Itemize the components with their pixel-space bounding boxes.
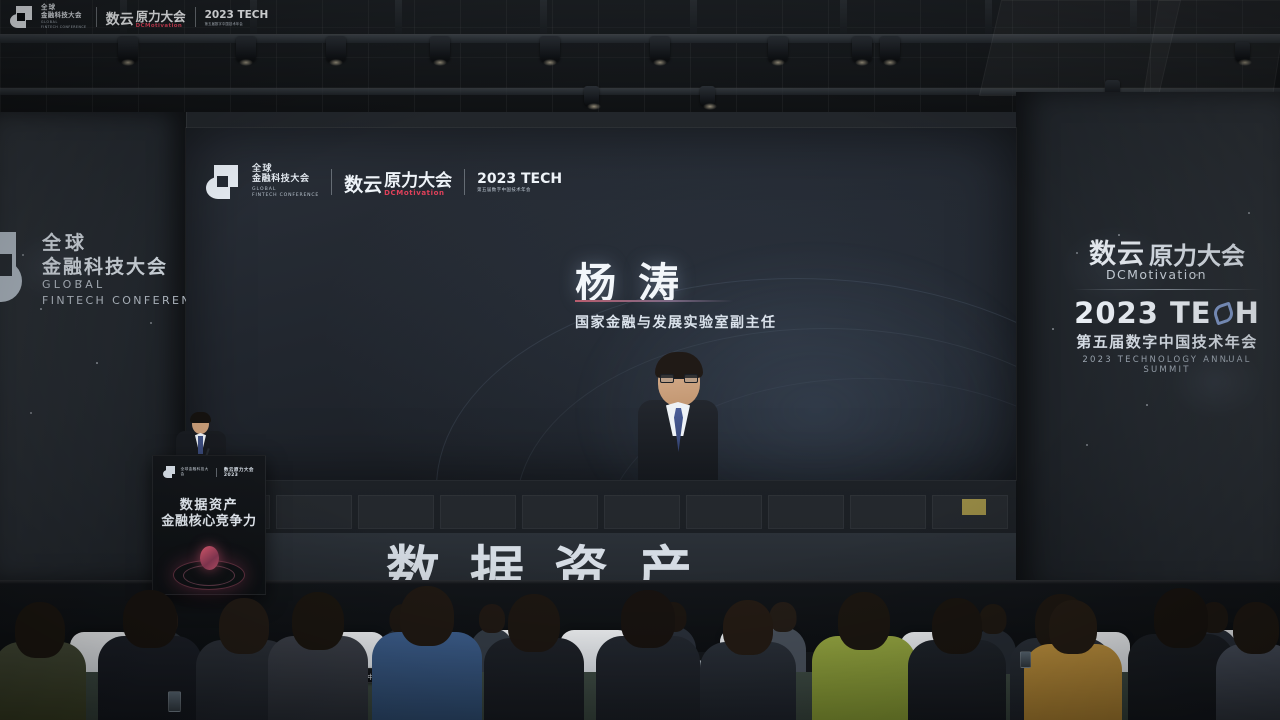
right-sign-divider: [1073, 289, 1261, 290]
watermark-en2: FINTECH CONFERENCE: [41, 25, 87, 30]
watermark-shuyun: 数云: [106, 9, 134, 29]
watermark-divider-2: [195, 7, 196, 27]
left-sign-cn-line2: 金融科技大会: [42, 252, 168, 279]
gfc-logo-mark-icon: [10, 6, 32, 28]
led-year: 2023 TECH: [477, 171, 562, 187]
watermark-gfc-text: 全球 金融科技大会 GLOBAL FINTECH CONFERENCE: [41, 4, 87, 30]
watermark-year: 2023 TECH: [205, 9, 269, 21]
audience-person: [1216, 602, 1280, 720]
right-sign-en-subtitle: 2023 TECHNOLOGY ANNUAL SUMMIT: [1062, 355, 1272, 375]
lower-wall-panels: [186, 495, 1016, 529]
right-sign-shuyun: 数云: [1089, 232, 1145, 271]
audience-person: [484, 594, 584, 720]
led-logo-divider-2: [464, 169, 465, 195]
podium-headline-line2: 金融核心竞争力: [153, 510, 265, 529]
podium-gfc-text: 全球金融科技大会: [181, 467, 209, 476]
speaker-name-underline: [575, 300, 733, 302]
led-gfc-text: 全球 金融科技大会 GLOBAL FINTECH CONFERENCE: [252, 164, 319, 200]
watermark-divider: [96, 7, 97, 27]
stage-light: [700, 86, 715, 106]
led-dcmotivation: DCMotivation: [384, 189, 445, 197]
watermark-subtitle: 第五届数字中国技术年会: [205, 21, 243, 26]
stage-light: [650, 36, 670, 62]
right-sign-dcmotivation: DCMotivation: [1106, 267, 1272, 282]
gfc-logo-mark-icon: [163, 466, 174, 478]
podium-logo-bar: 全球金融科技大会 数云原力大会 2023: [163, 466, 265, 478]
smartphone: [168, 691, 181, 712]
speaker-title: 国家金融与发展实验室副主任: [575, 312, 777, 332]
smartphone: [1020, 651, 1031, 668]
left-sign-en-line1: GLOBAL: [42, 278, 105, 291]
stage-light: [852, 36, 872, 62]
right-wall-sign: 数云 原力大会 DCMotivation 2023 TE H 第五届数字中国技术…: [1062, 232, 1272, 342]
left-sign-cn-line1: 全球: [42, 228, 88, 255]
audience-person: [700, 600, 796, 720]
right-sign-tech-h: H: [1235, 296, 1260, 330]
podium-shuyun-text: 数云原力大会 2023: [224, 467, 265, 478]
broadcast-watermark: 全球 金融科技大会 GLOBAL FINTECH CONFERENCE 数云 原…: [0, 0, 330, 34]
stage-light: [584, 86, 599, 106]
stage-light: [768, 36, 788, 62]
stage-light: [236, 36, 256, 62]
gfc-logo-mark-icon: [0, 232, 34, 302]
led-gfc-cn1: 全球: [252, 164, 319, 174]
audience-person: [1024, 600, 1122, 720]
audience-person: [98, 590, 202, 720]
glasses-icon: [660, 374, 698, 384]
gfc-logo-mark-icon: [206, 165, 240, 199]
led-gfc-cn2: 金融科技大会: [252, 174, 319, 184]
led-logo-bar: 全球 金融科技大会 GLOBAL FINTECH CONFERENCE 数云 原…: [206, 164, 562, 200]
led-year-sub: 第五届数字中国技术年会: [477, 187, 531, 193]
led-yuanli: 原力大会: [384, 166, 452, 191]
stage-light: [880, 36, 900, 62]
right-sign-cn-subtitle: 第五届数字中国技术年会: [1062, 331, 1272, 352]
stage-light: [326, 36, 346, 62]
audience-person: [908, 598, 1006, 720]
stage-light: [540, 36, 560, 62]
led-logo-divider: [331, 169, 332, 195]
speaker-video-portrait: [638, 356, 718, 480]
stage-light: [1235, 42, 1250, 62]
at-swirl-icon: [1210, 300, 1236, 326]
stage-light: [118, 36, 138, 62]
right-sign-yuanli: 原力大会: [1149, 236, 1245, 271]
led-shuyun: 数云: [344, 170, 382, 197]
audience-person: [0, 602, 86, 720]
podium-speaker-person: [176, 414, 226, 460]
audience-person: [812, 592, 916, 720]
audience-person: [596, 590, 700, 720]
left-wall-sign: 全球 金融科技大会 GLOBAL FINTECH CONFERENCE: [4, 228, 174, 318]
wall-amber-panel: [962, 499, 986, 515]
audience-area: 中国民生银行 中国进出口银行 中国工商银行 中信银行: [0, 540, 1280, 720]
led-gfc-en2: FINTECH CONFERENCE: [252, 193, 319, 199]
audience-person: [268, 592, 368, 720]
conference-stage-photo: 全球 金融科技大会 GLOBAL FINTECH CONFERENCE 数云 原…: [0, 0, 1280, 720]
stage-light: [430, 36, 450, 62]
audience-person: [372, 586, 482, 720]
watermark-cn2: 金融科技大会: [41, 12, 87, 20]
right-sign-tech-year: 2023 TE: [1074, 296, 1211, 330]
watermark-dcmotivation: DCMotivation: [136, 23, 183, 29]
